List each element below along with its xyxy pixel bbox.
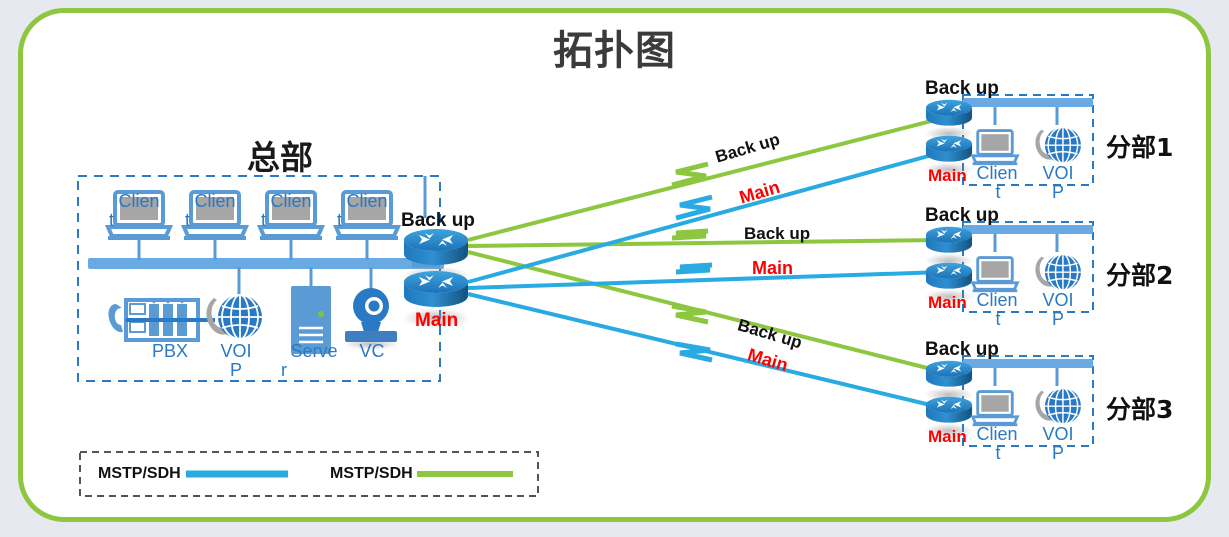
- link-2-backup-label: Back up: [744, 224, 810, 244]
- legend-item-1-label: MSTP/SDH: [98, 465, 181, 483]
- branch-1-backup-caption: Back up: [925, 78, 999, 100]
- branch-2-voip-label: VOI: [1034, 291, 1082, 310]
- hq-client-1-label-cont: t: [109, 211, 135, 230]
- legend-item-2-label: MSTP/SDH: [330, 465, 413, 483]
- branch-2-client-label: Clien: [971, 291, 1023, 310]
- hq-client-1-label: Clien: [109, 192, 169, 211]
- branch-2-backup-caption: Back up: [925, 205, 999, 227]
- branch-1-voip-label-cont: P: [1034, 183, 1082, 202]
- link-2-main-label: Main: [752, 258, 793, 279]
- hq-router-main-caption: Main: [415, 310, 458, 332]
- hq-title: 总部: [160, 131, 400, 179]
- branch-3-drop-lines: [995, 368, 1057, 386]
- hq-voip: [207, 295, 262, 339]
- branch-2-client: [973, 258, 1018, 293]
- branch-2-drop-lines: [995, 234, 1057, 252]
- hq-client-4-label-cont: t: [337, 211, 363, 230]
- branch-3-backup-caption: Back up: [925, 339, 999, 361]
- branch-2-client-label-cont: t: [985, 310, 1011, 329]
- main-links-group: [468, 152, 943, 408]
- branch-1-drop-lines: [995, 107, 1057, 125]
- branch-3-title: 分部3: [1106, 390, 1173, 426]
- branch-2-router-backup: [925, 227, 974, 268]
- hq-client-4-label: Clien: [337, 192, 397, 211]
- branch-1-client-label-cont: t: [985, 183, 1011, 202]
- branch-3-client: [973, 392, 1018, 427]
- backup-links-group: [468, 118, 943, 372]
- hq-client-2-label-cont: t: [185, 211, 211, 230]
- branch-2-title: 分部2: [1106, 256, 1173, 292]
- branch-1-voip: [1035, 127, 1081, 163]
- hq-bus-line: [88, 258, 444, 269]
- branch-3-client-label: Clien: [971, 425, 1023, 444]
- branch-1-main-caption: Main: [928, 166, 967, 186]
- hq-client-3-label-cont: t: [261, 211, 287, 230]
- branch-3-main-caption: Main: [928, 427, 967, 447]
- hq-server-label-cont: r: [281, 361, 307, 380]
- hq-router-backup-caption: Back up: [401, 210, 475, 232]
- branch-3-router-backup: [925, 361, 974, 402]
- branch-3-voip-label: VOI: [1034, 425, 1082, 444]
- branch-1-title: 分部1: [1106, 128, 1173, 164]
- branch-3-voip: [1035, 388, 1081, 424]
- hq-vc-label: VC: [349, 342, 395, 361]
- branch-1-client: [973, 131, 1018, 166]
- page-title: 拓扑图: [0, 18, 1229, 76]
- branch-1-client-label: Clien: [971, 164, 1023, 183]
- diagram-canvas: 拓扑图 总部 Clien t Clien t Clien t Clien t P…: [0, 0, 1229, 537]
- hq-voip-label-cont: P: [206, 361, 266, 380]
- branch-3-voip-label-cont: P: [1034, 444, 1082, 463]
- branch-3-client-label-cont: t: [985, 444, 1011, 463]
- branch-1-router-backup: [925, 100, 974, 141]
- hq-client-2-label: Clien: [185, 192, 245, 211]
- hq-client-3-label: Clien: [261, 192, 321, 211]
- hq-voip-label: VOI: [206, 342, 266, 361]
- branch-1-voip-label: VOI: [1034, 164, 1082, 183]
- branch-2-voip: [1035, 254, 1081, 290]
- branch-2-main-caption: Main: [928, 293, 967, 313]
- branch-2-voip-label-cont: P: [1034, 310, 1082, 329]
- hq-server-label: Serve: [281, 342, 347, 361]
- hq-pbx-label: PBX: [140, 342, 200, 361]
